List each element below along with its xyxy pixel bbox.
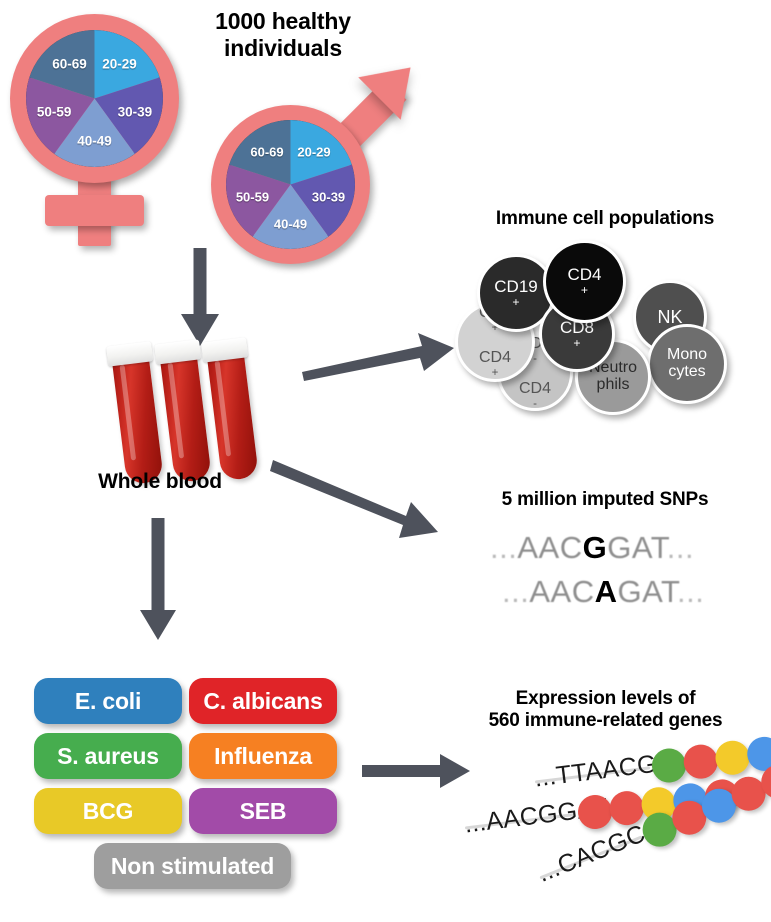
female-symbol: 20-2930-3940-4950-5960-69 [10,14,220,244]
arrow-blood-to-stimuli [136,518,180,644]
immune-section-title: Immune cell populations [440,208,770,230]
snp-section-title: 5 million imputed SNPs [440,489,770,511]
snp-sequences: ...AACGGAT... ...AACAGAT... [490,530,740,620]
female-stem-horizontal [45,195,144,226]
immune-cell-monocytes-label: Monocytes [667,347,707,381]
immune-cell-nk-label: NK [657,308,682,327]
figure-canvas: 1000 healthy individuals 20-2930-3940-49… [0,0,771,922]
snp-left-bases: AAC [529,574,594,609]
immune-cell-cd4: CD4+ [543,240,626,323]
immune-cell-cluster: CD19+ CD4+ NK CD8+CD4+ CD8+ CD8-CD4- Neu… [455,240,771,415]
snp-right-bases: GAT [617,574,677,609]
snp-prefix: ... [490,530,517,565]
stimulus-non-stimulated[interactable]: Non stimulated [94,843,291,889]
arrow-cohort-to-blood [178,248,222,352]
stimulus-s-aureus[interactable]: S. aureus [34,733,182,779]
pie-slice-60-69 [226,120,355,249]
stimulus-bcg[interactable]: BCG [34,788,182,834]
immune-cell-cd8-label: CD8+ [560,319,594,350]
stimulus-influenza-label: Influenza [214,743,312,770]
stimulus-bcg-label: BCG [83,798,134,825]
pie-slice-60-69 [26,30,163,167]
stimulus-c-albicans-label: C. albicans [203,688,322,715]
immune-cell-monocytes: Monocytes [647,324,727,404]
arrow-blood-to-immune [300,330,456,378]
snp-sequence-row: ...AACAGAT... [502,574,704,610]
snp-prefix: ... [502,574,529,609]
stimulus-non-stimulated-label: Non stimulated [111,853,274,880]
stimulus-e-coli[interactable]: E. coli [34,678,182,724]
female-age-pie: 20-2930-3940-4950-5960-69 [26,30,163,167]
expression-strands: ...TTAACGG ...AACGGAT ...CACGCAA [455,740,771,910]
stimuli-panel: E. coli C. albicans S. aureus Influenza … [34,678,344,896]
stimulus-influenza[interactable]: Influenza [189,733,337,779]
blood-tube-body [112,354,164,486]
blood-tube [158,340,195,345]
male-age-pie: 20-2930-3940-4950-5960-69 [226,120,355,249]
expression-section-title-line-2: 560 immune-related genes [440,710,771,732]
pie-label-60-69: 60-69 [52,57,87,72]
stimulus-c-albicans[interactable]: C. albicans [189,678,337,724]
expression-bead [714,739,752,777]
blood-tube-body [207,350,259,482]
blood-tube [110,342,147,347]
expression-section-title: Expression levels of 560 immune-related … [440,688,771,733]
expression-bead [682,743,720,781]
snp-variant-base: A [595,574,618,609]
arrow-blood-to-snps [270,452,440,544]
snp-sequence-row: ...AACGGAT... [490,530,694,566]
snp-right-bases: GAT [607,530,667,565]
snp-left-bases: AAC [517,530,582,565]
stimulus-e-coli-label: E. coli [75,688,141,715]
stimulus-seb[interactable]: SEB [189,788,337,834]
whole-blood-label: Whole blood [60,470,260,495]
snp-suffix: ... [667,530,694,565]
blood-tube-body [160,352,212,484]
snp-suffix: ... [677,574,704,609]
whole-blood-tubes [100,340,300,470]
expression-section-title-line-1: Expression levels of [440,688,771,710]
pie-label-60-69: 60-69 [250,145,283,160]
immune-cell-cd4-label: CD4+ [567,266,601,297]
snp-variant-base: G [583,530,608,565]
male-symbol: 20-2930-3940-4950-5960-69 [205,75,435,260]
stimulus-seb-label: SEB [240,798,287,825]
immune-cell-cd19-label: CD19+ [494,278,537,309]
stimulus-s-aureus-label: S. aureus [57,743,159,770]
